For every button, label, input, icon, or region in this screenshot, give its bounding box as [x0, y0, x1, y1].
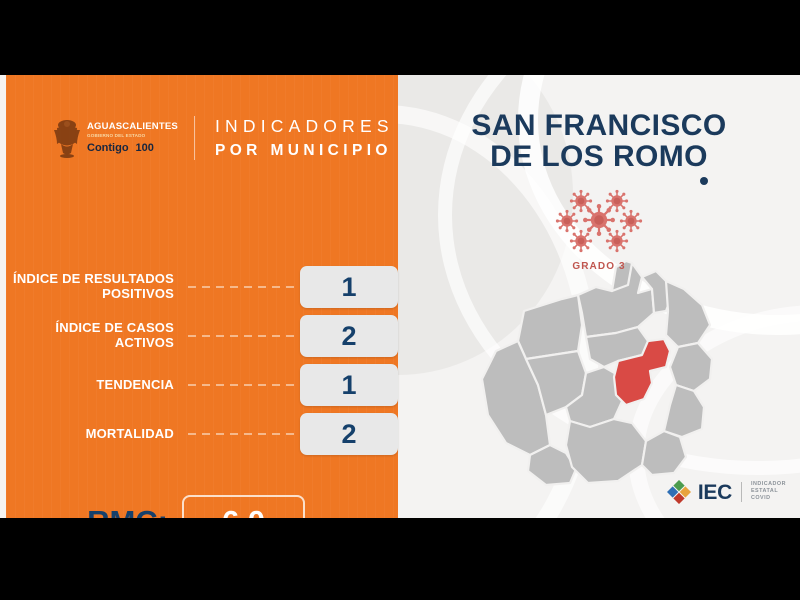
indicator-dash-leader [188, 286, 294, 288]
header-title-block: INDICADORES POR MUNICIPIO [215, 118, 394, 158]
rmc-row: RMC: 6.0 [6, 495, 398, 518]
iec-logo: IEC INDICADOR ESTATAL COVID [667, 480, 786, 504]
iec-subtitle-line3: COVID [751, 496, 786, 502]
municipality-name-line2: DE LOS ROMO [398, 142, 800, 173]
virus-cluster-icon [553, 187, 645, 253]
indicator-value-box: 1 [300, 266, 398, 308]
rmc-value-box: 6.0 [182, 495, 305, 518]
aguascalientes-map-icon [466, 255, 736, 495]
indicator-value: 2 [341, 323, 356, 350]
iec-logo-divider [741, 482, 742, 502]
rmc-label: RMC: [6, 506, 182, 518]
government-logo-text: AGUASCALIENTES GOBIERNO DEL ESTADO Conti… [87, 122, 178, 153]
indicator-row-casos-activos: ÍNDICE DE CASOS ACTIVOS 2 [6, 316, 398, 356]
indicator-dash-leader [188, 433, 294, 435]
indicator-row-mortalidad: MORTALIDAD 2 [6, 414, 398, 454]
iec-diamond-icon [667, 480, 691, 504]
header-divider [194, 116, 195, 160]
grade-label: GRADO 3 [572, 261, 625, 272]
indicator-value: 1 [341, 274, 356, 301]
screenshot-stage: AGUASCALIENTES GOBIERNO DEL ESTADO Conti… [0, 0, 800, 600]
grade-block: GRADO 3 [398, 187, 800, 272]
indicator-label: MORTALIDAD [6, 427, 182, 442]
indicator-label: TENDENCIA [6, 378, 182, 393]
indicator-row-tendencia: TENDENCIA 1 [6, 365, 398, 405]
government-logo: AGUASCALIENTES GOBIERNO DEL ESTADO Conti… [52, 116, 178, 160]
iec-subtitle: INDICADOR ESTATAL COVID [751, 482, 786, 502]
title-accent-dot [700, 177, 708, 185]
indicator-value-box: 2 [300, 315, 398, 357]
indicator-dash-leader [188, 335, 294, 337]
indicator-label: ÍNDICE DE RESULTADOS POSITIVOS [6, 272, 182, 301]
indicator-value-box: 2 [300, 413, 398, 455]
municipality-panel: SAN FRANCISCO DE LOS ROMO [398, 75, 800, 518]
aguascalientes-crest-icon [52, 116, 82, 160]
header-title-line2: POR MUNICIPIO [215, 143, 394, 159]
municipality-name-line1: SAN FRANCISCO [398, 111, 800, 142]
header-title-line1: INDICADORES [215, 118, 394, 136]
tagline-text: Contigo [87, 143, 129, 154]
state-name: AGUASCALIENTES [87, 122, 178, 132]
indicator-value: 2 [341, 421, 356, 448]
tagline-number: 100 [136, 143, 154, 154]
indicator-label: ÍNDICE DE CASOS ACTIVOS [6, 321, 182, 350]
state-subtitle: GOBIERNO DEL ESTADO [87, 134, 178, 139]
brand-header: AGUASCALIENTES GOBIERNO DEL ESTADO Conti… [6, 107, 398, 169]
indicator-row-resultados-positivos: ÍNDICE DE RESULTADOS POSITIVOS 1 [6, 267, 398, 307]
indicator-value-box: 1 [300, 364, 398, 406]
iec-wordmark: IEC [698, 482, 732, 503]
tagline-group: Contigo 100 [87, 143, 178, 154]
infographic-card: AGUASCALIENTES GOBIERNO DEL ESTADO Conti… [0, 75, 800, 518]
indicator-list: ÍNDICE DE RESULTADOS POSITIVOS 1 ÍNDICE … [6, 267, 398, 463]
indicator-dash-leader [188, 384, 294, 386]
municipality-title: SAN FRANCISCO DE LOS ROMO [398, 111, 800, 173]
indicator-value: 1 [341, 372, 356, 399]
rmc-value: 6.0 [222, 506, 265, 518]
